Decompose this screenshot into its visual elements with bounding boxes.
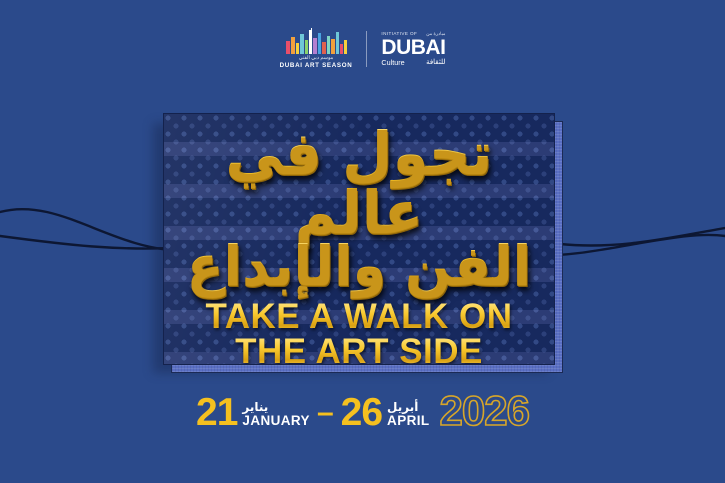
headline-arabic-line-2: الفن والإبداع	[187, 238, 532, 293]
date-range-separator: –	[317, 399, 334, 429]
end-day-number: 26	[341, 397, 382, 429]
logo-dubai-culture[interactable]: INITIATIVE OF مبادرة من DUBAI Culture لل…	[381, 32, 445, 66]
headline-english-line-2: THE ART SIDE	[235, 334, 483, 365]
event-date-strip: 21 يناير JANUARY – 26 أبريل APRIL 2026	[0, 394, 725, 429]
culture-sub-en: Culture	[381, 59, 404, 66]
logo-divider	[366, 31, 367, 67]
skyline-icon	[285, 28, 347, 54]
das-english-name: DUBAI ART SEASON	[280, 61, 353, 70]
start-date: 21 يناير JANUARY	[196, 397, 310, 429]
start-month-english: JANUARY	[242, 414, 310, 428]
logo-bar: موسم دبي الفني DUBAI ART SEASON INITIATI…	[0, 28, 725, 70]
end-date: 26 أبريل APRIL	[341, 397, 430, 429]
headline-arabic-line-1: تجول في عالم	[164, 124, 554, 242]
poster-canvas: موسم دبي الفني DUBAI ART SEASON INITIATI…	[0, 0, 725, 483]
culture-sub-ar: للثقافة	[426, 59, 445, 66]
start-day-number: 21	[196, 397, 237, 429]
poster-card: تجول في عالم الفن والإبداع TAKE A WALK O…	[163, 113, 553, 363]
event-year: 2026	[440, 394, 529, 429]
logo-dubai-art-season[interactable]: موسم دبي الفني DUBAI ART SEASON	[280, 28, 353, 70]
end-month-english: APRIL	[387, 414, 430, 428]
poster-copy: تجول في عالم الفن والإبداع TAKE A WALK O…	[164, 114, 554, 364]
headline-english-line-1: TAKE A WALK ON	[205, 299, 512, 335]
culture-wordmark: DUBAI	[381, 38, 445, 58]
poster-face: تجول في عالم الفن والإبداع TAKE A WALK O…	[163, 113, 555, 365]
